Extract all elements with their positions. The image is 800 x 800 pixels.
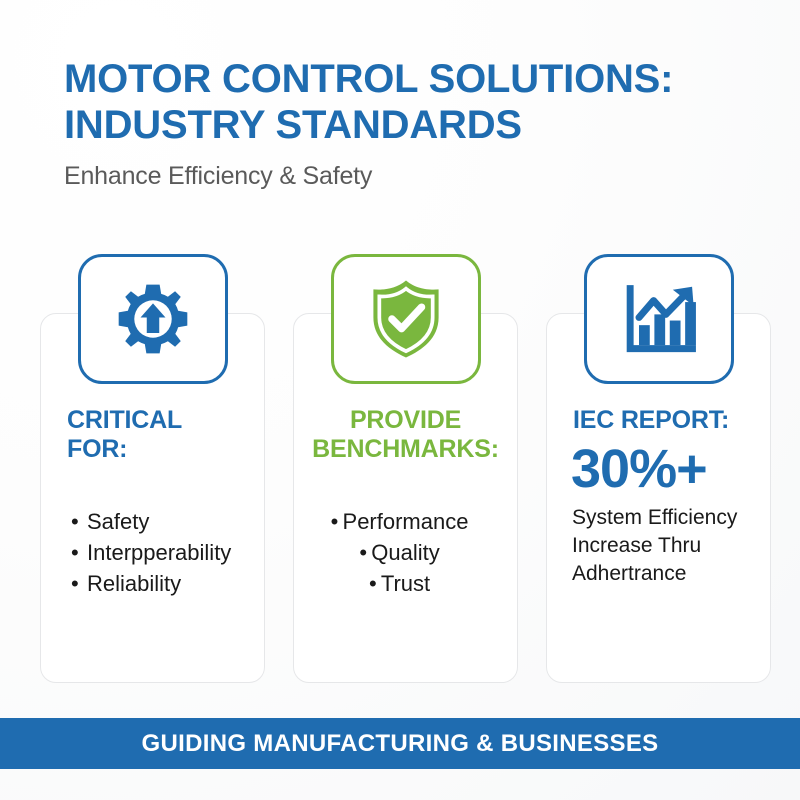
bar-chart-growth-icon: [619, 280, 699, 358]
bullet-list-provide-benchmarks: Performance Quality Trust: [312, 506, 499, 600]
icon-tile-iec-report: [584, 254, 734, 384]
bullet-list-critical-for: Safety Interpperability Reliability: [59, 506, 246, 600]
cards-row: Critical For: Safety Interpperability Re…: [0, 313, 800, 685]
card-heading-provide-benchmarks: Provide Benchmarks:: [312, 406, 499, 463]
header: Motor Control Solutions: Industry Standa…: [64, 56, 764, 191]
card-provide-benchmarks[interactable]: Provide Benchmarks: Performance Quality …: [293, 313, 518, 683]
footer-banner: Guiding Manufacturing & Businesses: [0, 718, 800, 769]
gear-up-arrow-icon: [114, 280, 192, 358]
list-item: Interpperability: [87, 537, 246, 568]
infographic-page: Motor Control Solutions: Industry Standa…: [0, 0, 800, 800]
icon-tile-provide-benchmarks: [331, 254, 481, 384]
card-heading-critical-for: Critical For:: [59, 406, 246, 463]
stat-value: 30%+: [565, 441, 752, 498]
page-title: Motor Control Solutions: Industry Standa…: [64, 56, 764, 149]
icon-tile-critical-for: [78, 254, 228, 384]
shield-check-icon: [368, 279, 444, 359]
list-item: Performance: [312, 506, 499, 537]
card-critical-for[interactable]: Critical For: Safety Interpperability Re…: [40, 313, 265, 683]
list-item: Trust: [312, 568, 499, 599]
footer-banner-text: Guiding Manufacturing & Businesses: [142, 730, 659, 758]
list-item: Quality: [312, 537, 499, 568]
list-item: Reliability: [87, 568, 246, 599]
card-body-provide-benchmarks: Provide Benchmarks: Performance Quality …: [294, 406, 517, 600]
page-subtitle: Enhance Efficiency & Safety: [64, 162, 764, 191]
list-item: Safety: [87, 506, 246, 537]
card-body-iec-report: IEC Report: 30%+ System Efficiency Incre…: [547, 406, 770, 587]
stat-description: System Efficiency Increase Thru Adhertra…: [565, 504, 752, 587]
card-heading-iec-report: IEC Report:: [565, 406, 752, 435]
card-body-critical-for: Critical For: Safety Interpperability Re…: [41, 406, 264, 600]
card-iec-report[interactable]: IEC Report: 30%+ System Efficiency Incre…: [546, 313, 771, 683]
